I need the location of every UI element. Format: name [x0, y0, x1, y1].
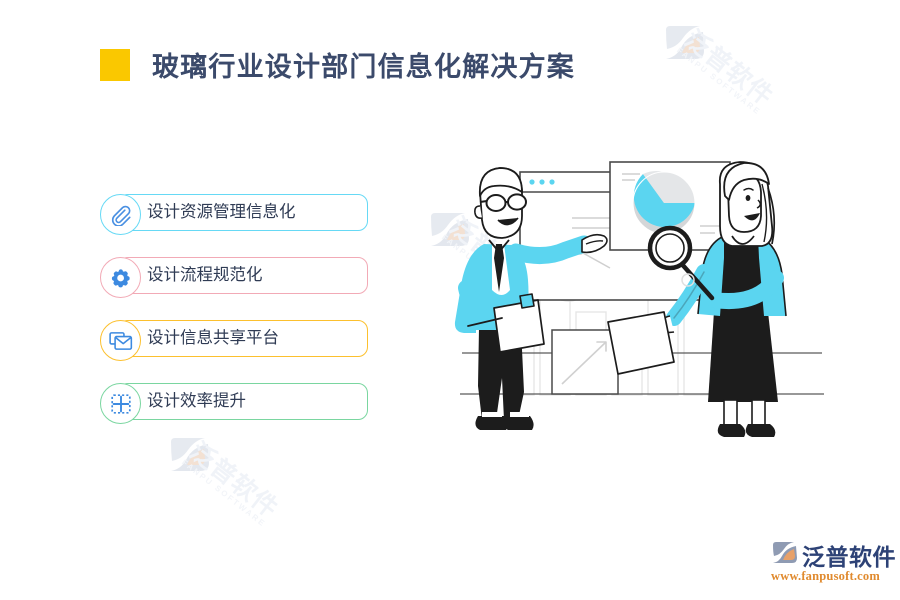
- watermark: 泛普软件FANPU SOFTWARE: [660, 8, 810, 118]
- page-title: 玻璃行业设计部门信息化解决方案: [100, 45, 575, 84]
- slide-canvas: 泛普软件FANPU SOFTWARE泛普软件FANPU SOFTWARE泛普软件…: [0, 0, 900, 600]
- feature-item-efficiency-improvement[interactable]: 设计效率提升: [100, 383, 370, 424]
- watermark-text: 泛普软件FANPU SOFTWARE: [180, 438, 283, 529]
- feature-label: 设计流程规范化: [147, 257, 263, 294]
- logo-company-name: 泛普软件: [802, 538, 896, 572]
- page-title-text: 玻璃行业设计部门信息化解决方案: [152, 45, 575, 84]
- feature-item-information-sharing[interactable]: 设计信息共享平台: [100, 320, 370, 361]
- watermark-subtext: FANPU SOFTWARE: [180, 459, 267, 530]
- feature-item-process-standardization[interactable]: 设计流程规范化: [100, 257, 370, 298]
- growth-arrow-card: [552, 330, 618, 394]
- feature-item-resource-management[interactable]: 设计资源管理信息化: [100, 194, 370, 235]
- feature-label: 设计资源管理信息化: [147, 194, 296, 231]
- paperclip-icon: [100, 194, 141, 235]
- hero-illustration: [432, 140, 852, 450]
- fanpu-logo-mark: [770, 540, 800, 566]
- watermark-subtext: FANPU SOFTWARE: [675, 47, 762, 118]
- feature-list: 设计资源管理信息化 设计流程规范化 设计信息共享平台: [100, 194, 370, 446]
- watermark-logo-mark: [662, 22, 708, 64]
- crosshair-icon: [100, 383, 141, 424]
- logo-url: www.fanpusoft.com: [771, 569, 880, 584]
- watermark-text: 泛普软件FANPU SOFTWARE: [675, 26, 778, 117]
- held-document: [608, 312, 674, 374]
- title-accent-swatch: [100, 49, 130, 81]
- feature-label: 设计效率提升: [147, 383, 246, 420]
- feature-label: 设计信息共享平台: [147, 320, 279, 357]
- gear-icon: [100, 257, 141, 298]
- envelope-icon: [100, 320, 141, 361]
- company-logo: 泛普软件 www.fanpusoft.com: [770, 538, 890, 586]
